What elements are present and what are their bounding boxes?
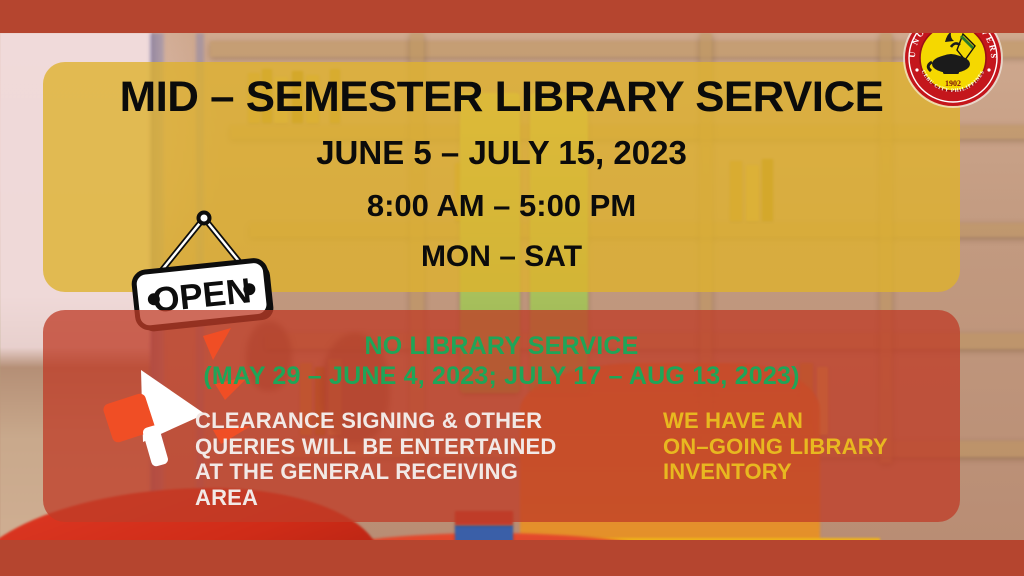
poster-root: OPEN MID – SEMESTER LIBRARY SERVICE JUNE… xyxy=(0,0,1024,576)
clearance-notice-line: CLEARANCE SIGNING & OTHER xyxy=(195,408,595,434)
inventory-notice-line: INVENTORY xyxy=(663,459,963,485)
photo-flag-bit xyxy=(455,525,513,540)
red-notice-panel: NO LIBRARY SERVICE (MAY 29 – JUNE 4, 202… xyxy=(43,310,960,522)
top-border-band xyxy=(0,0,1024,33)
clearance-notice-line: AREA xyxy=(195,485,595,511)
bottom-border-band xyxy=(0,540,1024,576)
logo-year: 1902 xyxy=(945,79,961,88)
inventory-notice-line: ON–GOING LIBRARY xyxy=(663,434,963,460)
poster-title: MID – SEMESTER LIBRARY SERVICE xyxy=(34,76,969,119)
service-dates: JUNE 5 – JULY 15, 2023 xyxy=(43,136,960,169)
clearance-notice-line: QUERIES WILL BE ENTERTAINED xyxy=(195,434,595,460)
service-days: MON – SAT xyxy=(43,242,960,272)
inventory-notice-line: WE HAVE AN xyxy=(663,408,963,434)
inventory-notice: WE HAVE AN ON–GOING LIBRARY INVENTORY xyxy=(663,408,963,485)
clearance-notice: CLEARANCE SIGNING & OTHER QUERIES WILL B… xyxy=(195,408,595,511)
gold-announcement-banner: OPEN MID – SEMESTER LIBRARY SERVICE JUNE… xyxy=(43,62,960,292)
service-hours: 8:00 AM – 5:00 PM xyxy=(43,190,960,221)
clearance-notice-line: AT THE GENERAL RECEIVING xyxy=(195,459,595,485)
no-service-headline: NO LIBRARY SERVICE xyxy=(43,334,960,359)
no-service-date-range: (MAY 29 – JUNE 4, 2023; JULY 17 – AUG 13… xyxy=(43,364,960,389)
